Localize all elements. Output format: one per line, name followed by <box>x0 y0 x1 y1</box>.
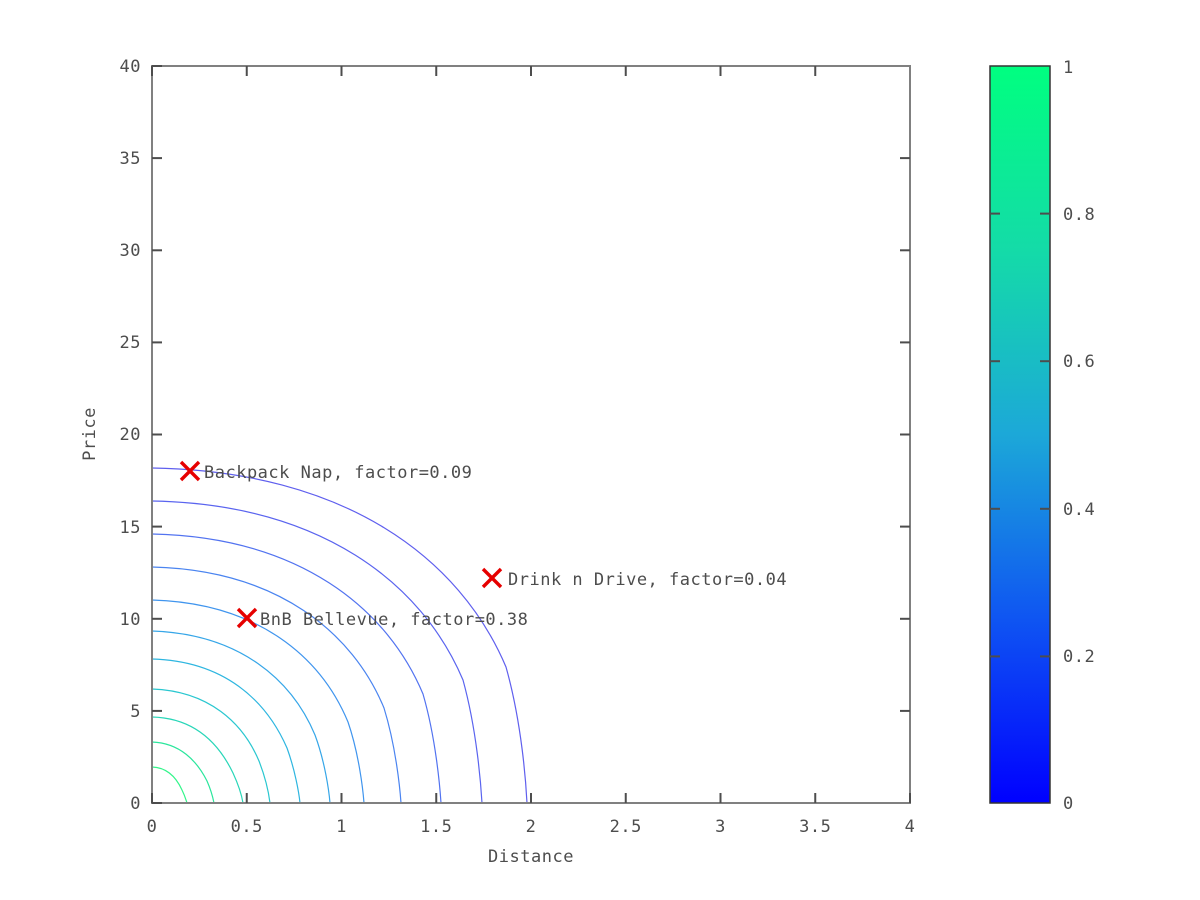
contour-line-0.9 <box>152 767 187 803</box>
x-tick-label-7: 3.5 <box>799 817 831 837</box>
y-tick-label-8: 40 <box>120 57 141 77</box>
marker-label-drink-n-drive: Drink n Drive, factor=0.04 <box>508 570 787 590</box>
contour-line-0.5 <box>152 689 270 803</box>
y-tick-labels: 0 5 10 15 20 25 30 35 40 <box>120 57 141 814</box>
colorbar-tick-label-4: 0.8 <box>1063 205 1095 225</box>
x-tick-label-0: 0 <box>147 817 158 837</box>
contour-line-0.3 <box>152 600 364 803</box>
contour-line-0.75 <box>152 742 214 803</box>
y-tick-label-0: 0 <box>130 794 141 814</box>
colorbar-tick-label-3: 0.6 <box>1063 352 1095 372</box>
contour-line-0.1 <box>152 468 527 803</box>
colorbar-tick-labels: 0 0.2 0.4 0.6 0.8 1 <box>1063 58 1095 814</box>
x-tick-label-8: 4 <box>905 817 916 837</box>
y-tick-label-2: 10 <box>120 610 141 630</box>
plot-svg: 0 0.5 1 1.5 2 2.5 3 3.5 4 0 5 10 15 20 2… <box>0 0 1200 900</box>
colorbar-tick-label-0: 0 <box>1063 794 1074 814</box>
colorbar-tick-label-1: 0.2 <box>1063 647 1095 667</box>
figure-canvas: 0 0.5 1 1.5 2 2.5 3 3.5 4 0 5 10 15 20 2… <box>0 0 1200 900</box>
y-tick-label-7: 35 <box>120 149 141 169</box>
x-tick-label-5: 2.5 <box>610 817 642 837</box>
marker-label-backpack-nap: Backpack Nap, factor=0.09 <box>204 463 472 483</box>
contour-line-group <box>152 468 527 803</box>
contour-line-0.25 <box>152 567 401 803</box>
marker-group: Backpack Nap, factor=0.09 Drink n Drive,… <box>181 462 787 630</box>
x-tick-label-4: 2 <box>526 817 537 837</box>
y-tick-label-1: 5 <box>130 702 141 722</box>
x-tick-label-3: 1.5 <box>420 817 452 837</box>
y-tick-label-4: 20 <box>120 425 141 445</box>
y-axis-ticks <box>152 66 910 803</box>
marker-label-bnb-bellevue: BnB Bellevue, factor=0.38 <box>260 610 528 630</box>
y-axis-title: Price <box>80 407 100 461</box>
marker-backpack-nap[interactable] <box>181 462 199 480</box>
x-tick-labels: 0 0.5 1 1.5 2 2.5 3 3.5 4 <box>147 817 916 837</box>
colorbar-tick-label-5: 1 <box>1063 58 1074 78</box>
colorbar-tick-label-2: 0.4 <box>1063 500 1095 520</box>
x-tick-label-1: 0.5 <box>231 817 263 837</box>
y-tick-label-6: 30 <box>120 241 141 261</box>
x-tick-label-6: 3 <box>715 817 726 837</box>
marker-bnb-bellevue[interactable] <box>238 609 256 627</box>
colorbar[interactable]: 0 0.2 0.4 0.6 0.8 1 <box>990 58 1095 814</box>
colorbar-gradient <box>990 66 1050 803</box>
plot-frame <box>152 66 910 803</box>
marker-drink-n-drive[interactable] <box>483 569 501 587</box>
contour-line-0.6 <box>152 717 243 803</box>
x-axis-title: Distance <box>488 847 574 867</box>
x-tick-label-2: 1 <box>336 817 347 837</box>
contour-line-0.15 <box>152 501 482 803</box>
y-tick-label-5: 25 <box>120 333 141 353</box>
y-tick-label-3: 15 <box>120 518 141 538</box>
x-axis-ticks <box>152 66 910 803</box>
